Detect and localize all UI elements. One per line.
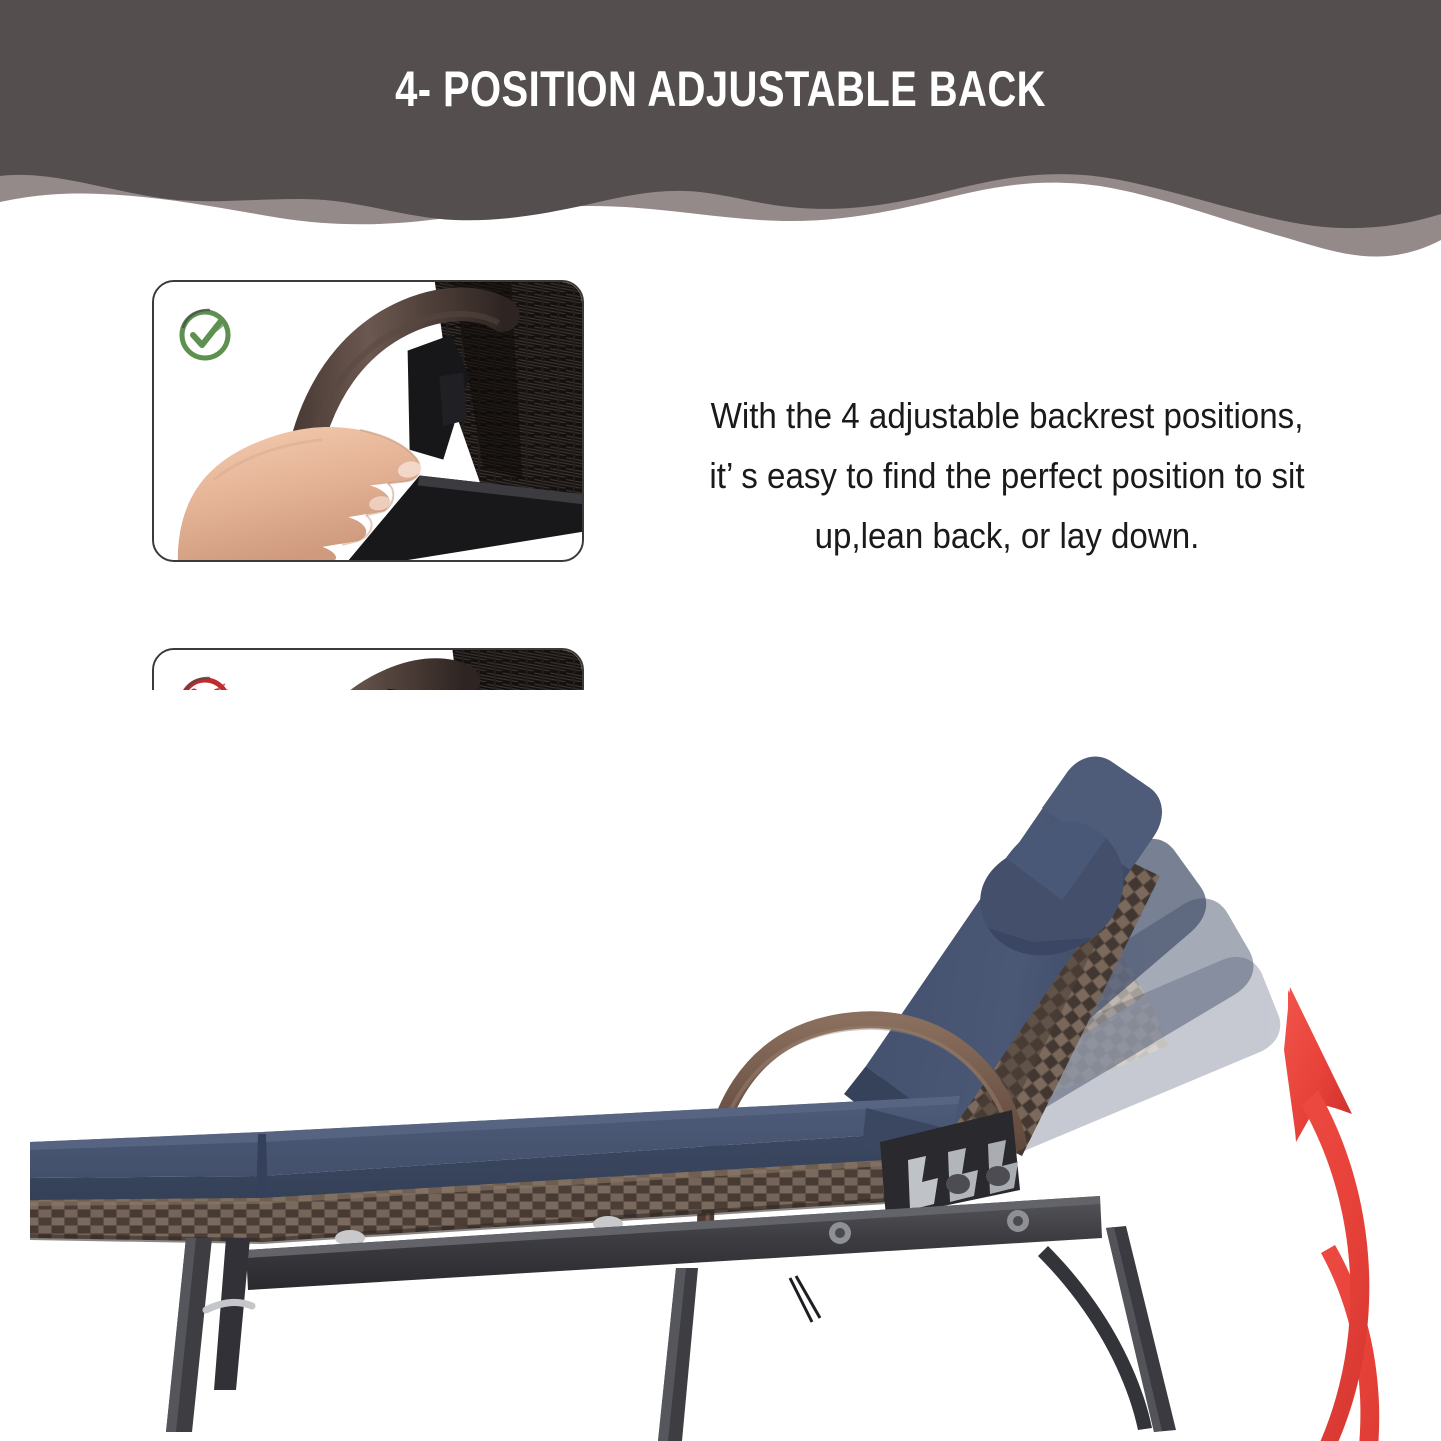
description-line-2: it’ s easy to find the perfect position … [644, 446, 1371, 506]
product-illustration [0, 690, 1441, 1441]
infographic-canvas: 4- POSITION ADJUSTABLE BACK [0, 0, 1441, 1441]
description-line-3: up,lean back, or lay down. [644, 506, 1371, 566]
header-banner: 4- POSITION ADJUSTABLE BACK [0, 0, 1441, 260]
description-line-1: With the 4 adjustable backrest positions… [644, 386, 1371, 446]
panel-correct-usage [152, 280, 584, 562]
description-text: With the 4 adjustable backrest positions… [612, 386, 1402, 566]
check-circle-icon [174, 302, 236, 364]
page-title: 4- POSITION ADJUSTABLE BACK [144, 62, 1297, 117]
